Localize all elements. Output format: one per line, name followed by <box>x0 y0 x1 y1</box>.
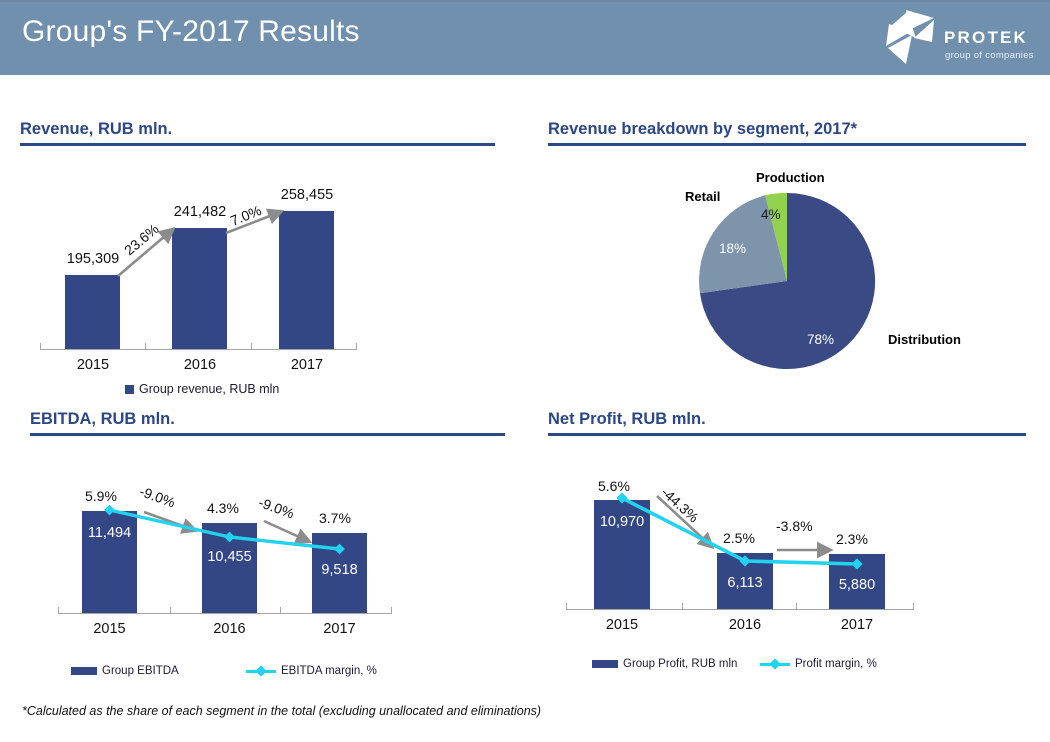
x-label-ebitda-2016: 2016 <box>188 621 271 637</box>
page-title: Group's FY-2017 Results <box>22 15 360 49</box>
x-label-revenue-2015: 2015 <box>47 357 139 373</box>
x-label-profit-2015: 2015 <box>580 617 664 633</box>
revenue-legend-item-bar: Group revenue, RUB mln <box>125 382 279 396</box>
legend-bar-swatch <box>71 667 97 675</box>
axis-tick <box>40 343 41 350</box>
axis-tick <box>391 607 392 614</box>
logo-wordmark: PROTEK <box>944 28 1028 48</box>
axis-tick <box>145 343 146 350</box>
logo-tagline: group of companies <box>945 50 1034 61</box>
legend-label: EBITDA margin, % <box>281 665 377 677</box>
axis-tick <box>566 603 567 610</box>
legend-bar-swatch <box>592 660 618 668</box>
profit-legend-item-line: Profit margin, % <box>760 658 877 670</box>
brand-logo: PROTEK group of companies <box>872 6 1042 74</box>
legend-label: Group Profit, RUB mln <box>623 658 737 670</box>
ebitda-x-axis <box>58 613 391 614</box>
legend-label: Group EBITDA <box>102 665 179 677</box>
profit-margin-line <box>548 436 948 636</box>
x-label-revenue-2017: 2017 <box>261 357 353 373</box>
footnote: *Calculated as the share of each segment… <box>22 704 541 718</box>
net-profit-chart-panel: Net Profit, RUB mln. 10,970 6,113 5,880 … <box>548 410 1026 676</box>
axis-tick <box>796 603 797 610</box>
profit-legend-item-bar: Group Profit, RUB mln <box>592 658 737 670</box>
revenue-plot-area: 195,309 241,482 258,455 23.6% 7.0% <box>20 146 495 396</box>
legend-label: Profit margin, % <box>795 658 877 670</box>
pie-value-retail: 18% <box>719 241 746 256</box>
revenue-segment-pie <box>697 191 877 371</box>
profit-x-axis <box>566 609 913 610</box>
x-label-ebitda-2015: 2015 <box>68 621 151 637</box>
pie-label-distribution: Distribution <box>888 332 961 347</box>
pie-value-distribution: 78% <box>807 332 834 347</box>
axis-tick <box>280 607 281 614</box>
x-label-revenue-2016: 2016 <box>154 357 246 373</box>
pie-label-retail: Retail <box>685 189 720 204</box>
revenue-x-axis <box>40 349 356 350</box>
pie-label-production: Production <box>756 170 825 185</box>
ebitda-chart-title: EBITDA, RUB mln. <box>30 410 505 429</box>
ebitda-chart-panel: EBITDA, RUB mln. 11,494 10,455 9,518 5.9… <box>30 410 505 676</box>
legend-label: Group revenue, RUB mln <box>139 382 279 396</box>
x-label-profit-2017: 2017 <box>815 617 899 633</box>
net-profit-chart-title: Net Profit, RUB mln. <box>548 410 1026 429</box>
bar-revenue-2015 <box>65 275 120 349</box>
revenue-chart-title: Revenue, RUB mln. <box>20 120 495 139</box>
segment-breakdown-panel: Revenue breakdown by segment, 2017* Prod… <box>548 120 1026 396</box>
slide-header: Group's FY-2017 Results PROTEK group of … <box>0 0 1050 75</box>
ebitda-plot-area: 11,494 10,455 9,518 5.9% 4.3% 3.7% -9.0% <box>30 436 505 676</box>
net-profit-plot-area: 10,970 6,113 5,880 5.6% 2.5% 2.3% -44.3% <box>548 436 1026 676</box>
axis-tick <box>682 603 683 610</box>
legend-line-marker <box>760 663 790 666</box>
x-label-ebitda-2017: 2017 <box>298 621 381 637</box>
ebitda-legend-item-line: EBITDA margin, % <box>246 665 377 677</box>
ebitda-legend-item-bar: Group EBITDA <box>71 665 179 677</box>
pinwheel-logo-icon <box>876 8 938 70</box>
revenue-chart-panel: Revenue, RUB mln. 195,309 241,482 258,45… <box>20 120 495 396</box>
ebitda-margin-line <box>30 436 430 636</box>
axis-tick <box>356 343 357 350</box>
legend-bar-swatch <box>125 385 134 394</box>
pie-value-production: 4% <box>761 207 781 222</box>
value-label-revenue-2017: 258,455 <box>261 187 353 203</box>
axis-tick <box>58 607 59 614</box>
segment-chart-title: Revenue breakdown by segment, 2017* <box>548 120 1026 139</box>
pie-plot-area: Production Retail Distribution 4% 18% 78… <box>548 146 1026 396</box>
legend-line-marker <box>246 670 276 673</box>
axis-tick <box>251 343 252 350</box>
axis-tick <box>170 607 171 614</box>
axis-tick <box>913 603 914 610</box>
x-label-profit-2016: 2016 <box>703 617 787 633</box>
